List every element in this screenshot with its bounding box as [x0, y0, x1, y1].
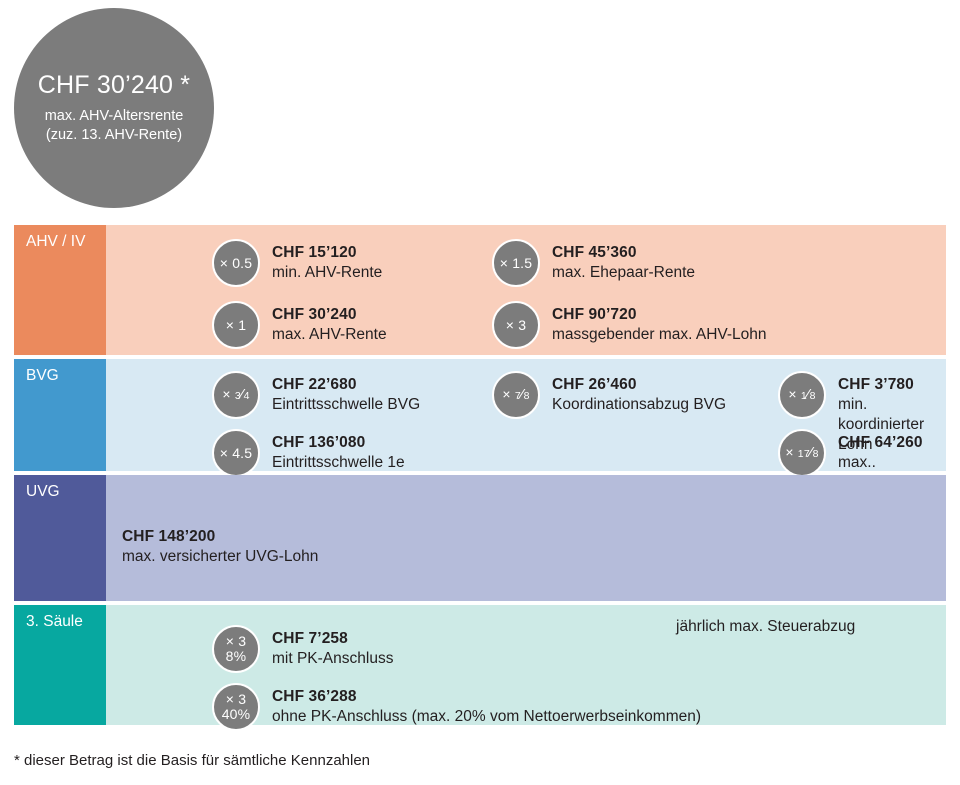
hero-badge: CHF 30’240 * max. AHV-Altersrente (zuz. …	[14, 8, 214, 208]
hero-amount: CHF 30’240 *	[38, 71, 190, 100]
multiplier-value: × 7⁄8	[502, 387, 529, 403]
item-description: max. versicherter UVG-Lohn	[122, 547, 318, 567]
fraction-denominator: 8	[810, 391, 816, 402]
item-row: × 7⁄8 CHF 26’460 Koordinationsabzug BVG	[492, 371, 726, 419]
item-description: Eintrittsschwelle 1e	[272, 453, 405, 473]
multiplier-bubble: × 1	[212, 301, 260, 349]
item-amount: CHF 26’460	[552, 375, 726, 395]
section-bvg: BVG × 3⁄4 CHF 22’680 Eintrittsschwelle B…	[14, 359, 946, 471]
item-description: massgebender max. AHV-Lohn	[552, 325, 767, 345]
section-uvg: UVG CHF 148’200 max. versicherter UVG-Lo…	[14, 475, 946, 601]
fraction-numerator: 17	[798, 449, 810, 460]
item-row: × 3 CHF 90’720 massgebender max. AHV-Loh…	[492, 301, 767, 349]
section-body-saeule: jährlich max. Steuerabzug × 3 8% CHF 7’2…	[106, 605, 946, 725]
item-amount: CHF 45’360	[552, 243, 695, 263]
item-amount: CHF 64’260	[838, 433, 946, 453]
multiplier-value: × 3	[226, 692, 246, 707]
item-description: mit PK-Anschluss	[272, 649, 393, 669]
multiplier-value: × 1.5	[500, 256, 533, 271]
item-amount: CHF 36’288	[272, 687, 701, 707]
section-label-bvg: BVG	[14, 359, 106, 471]
section-saeule: 3. Säule jährlich max. Steuerabzug × 3 8…	[14, 605, 946, 725]
fraction-denominator: 8	[813, 449, 819, 460]
sections-container: AHV / IV × 0.5 CHF 15’120 min. AHV-Rente…	[14, 225, 946, 729]
item-amount: CHF 15’120	[272, 243, 382, 263]
item-amount: CHF 30’240	[272, 305, 387, 325]
item-row: CHF 148’200 max. versicherter UVG-Lohn	[122, 527, 318, 567]
item-row: × 4.5 CHF 136’080 Eintrittsschwelle 1e	[212, 429, 405, 477]
hero-circle: CHF 30’240 * max. AHV-Altersrente (zuz. …	[14, 8, 214, 208]
section-body-bvg: × 3⁄4 CHF 22’680 Eintrittsschwelle BVG ×…	[106, 359, 946, 471]
multiplier-value: × 3⁄4	[222, 387, 249, 403]
item-row: × 3 8% CHF 7’258 mit PK-Anschluss	[212, 625, 393, 673]
multiplier-value: × 3	[506, 318, 526, 333]
multiplier-bubble: × 4.5	[212, 429, 260, 477]
item-amount: CHF 90’720	[552, 305, 767, 325]
multiplier-bubble: × 0.5	[212, 239, 260, 287]
multiplier-value: × 4.5	[220, 446, 253, 461]
hero-subtitle-line2: (zuz. 13. AHV-Rente)	[46, 126, 182, 145]
item-row: × 0.5 CHF 15’120 min. AHV-Rente	[212, 239, 382, 287]
multiplier-bubble: × 1⁄8	[778, 371, 826, 419]
section-label-ahv: AHV / IV	[14, 225, 106, 355]
tax-deduction-note: jährlich max. Steuerabzug	[676, 617, 855, 637]
item-amount: CHF 148’200	[122, 527, 318, 547]
hero-subtitle-line1: max. AHV-Altersrente	[45, 107, 184, 126]
multiplier-bubble: × 3 40%	[212, 683, 260, 731]
item-amount: CHF 7’258	[272, 629, 393, 649]
multiplier-bubble: × 1.5	[492, 239, 540, 287]
item-amount: CHF 22’680	[272, 375, 420, 395]
multiplier-value: × 1⁄8	[788, 387, 815, 403]
multiplier-bubble: × 3	[492, 301, 540, 349]
fraction-denominator: 4	[244, 391, 250, 402]
section-label-uvg: UVG	[14, 475, 106, 601]
section-label-saeule: 3. Säule	[14, 605, 106, 725]
item-description: ohne PK-Anschluss (max. 20% vom Nettoerw…	[272, 707, 701, 727]
item-description: Eintrittsschwelle BVG	[272, 395, 420, 415]
item-row: × 3⁄4 CHF 22’680 Eintrittsschwelle BVG	[212, 371, 420, 419]
section-ahv: AHV / IV × 0.5 CHF 15’120 min. AHV-Rente…	[14, 225, 946, 355]
fraction-denominator: 8	[524, 391, 530, 402]
multiplier-percent: 40%	[222, 707, 251, 722]
multiplier-bubble: × 17⁄8	[778, 429, 826, 477]
multiplier-value: × 0.5	[220, 256, 253, 271]
multiplier-bubble: × 7⁄8	[492, 371, 540, 419]
item-description: max. AHV-Rente	[272, 325, 387, 345]
section-body-uvg: CHF 148’200 max. versicherter UVG-Lohn	[106, 475, 946, 601]
multiplier-value: × 17⁄8	[785, 445, 818, 461]
item-row: × 1.5 CHF 45’360 max. Ehepaar-Rente	[492, 239, 695, 287]
note-text: jährlich max. Steuerabzug	[676, 617, 855, 637]
item-amount: CHF 136’080	[272, 433, 405, 453]
section-body-ahv: × 0.5 CHF 15’120 min. AHV-Rente × 1 CHF …	[106, 225, 946, 355]
multiplier-bubble: × 3⁄4	[212, 371, 260, 419]
multiplier-value: × 1	[226, 318, 246, 333]
multiplier-bubble: × 3 8%	[212, 625, 260, 673]
item-description: Koordinationsabzug BVG	[552, 395, 726, 415]
item-description: max. Ehepaar-Rente	[552, 263, 695, 283]
item-amount: CHF 3’780	[838, 375, 946, 395]
item-description: min. AHV-Rente	[272, 263, 382, 283]
multiplier-percent: 8%	[226, 649, 247, 664]
item-row: × 1 CHF 30’240 max. AHV-Rente	[212, 301, 387, 349]
multiplier-value: × 3	[226, 634, 246, 649]
footnote: * dieser Betrag ist die Basis für sämtli…	[14, 752, 370, 769]
item-row: × 3 40% CHF 36’288 ohne PK-Anschluss (ma…	[212, 683, 701, 731]
